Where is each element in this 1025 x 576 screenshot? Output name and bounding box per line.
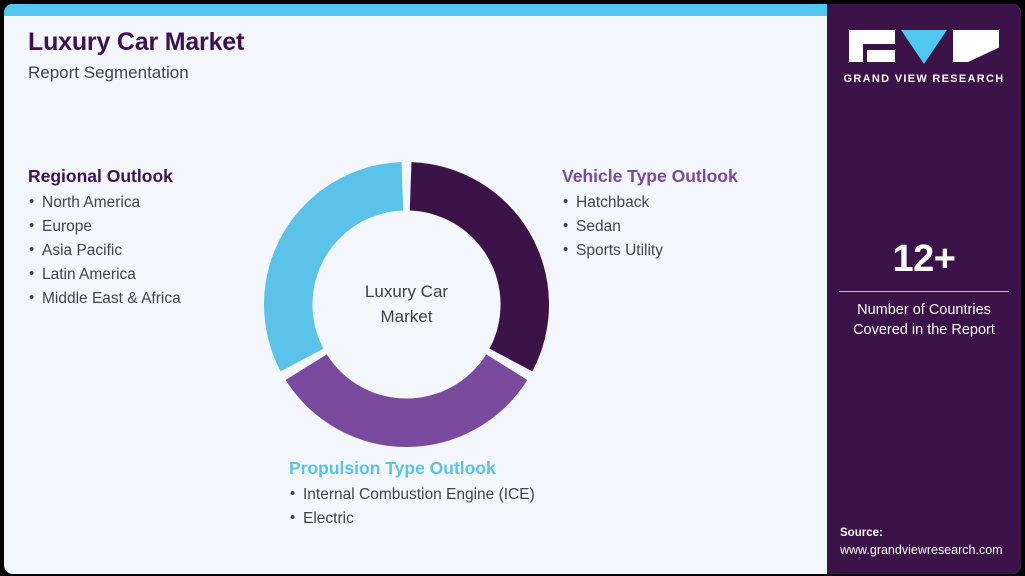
stat-divider	[839, 291, 1009, 292]
list-item: Hatchback	[562, 191, 738, 215]
segmentation-donut-chart: Luxury Car Market	[264, 162, 549, 447]
list-item: Europe	[28, 215, 181, 239]
list-item: Asia Pacific	[28, 239, 181, 263]
vehicle-type-outlook-heading: Vehicle Type Outlook	[562, 166, 738, 188]
logo-wordmark: GRAND VIEW RESEARCH	[827, 73, 1021, 85]
brand-logo: GRAND VIEW RESEARCH	[827, 30, 1021, 85]
donut-slice[interactable]	[286, 354, 528, 447]
page-title: Luxury Car Market	[28, 28, 728, 57]
source-block: Source: www.grandviewresearch.com	[840, 525, 1020, 559]
vehicle-type-outlook-block: Vehicle Type Outlook Hatchback Sedan Spo…	[562, 166, 738, 263]
regional-outlook-list: North America Europe Asia Pacific Latin …	[28, 191, 181, 311]
regional-outlook-heading: Regional Outlook	[28, 166, 181, 188]
stat-label-line-2: Covered in the Report	[839, 321, 1009, 341]
list-item: Sedan	[562, 215, 738, 239]
list-item: Electric	[289, 507, 535, 531]
propulsion-type-outlook-heading: Propulsion Type Outlook	[289, 458, 535, 480]
list-item: Latin America	[28, 263, 181, 287]
main-card: Luxury Car Market Report Segmentation Re…	[4, 4, 1021, 574]
list-item: Internal Combustion Engine (ICE)	[289, 483, 535, 507]
side-panel: GRAND VIEW RESEARCH 12+ Number of Countr…	[827, 4, 1021, 574]
vehicle-type-outlook-list: Hatchback Sedan Sports Utility	[562, 191, 738, 263]
stat-value: 12+	[839, 240, 1009, 278]
countries-stat-block: 12+ Number of Countries Covered in the R…	[839, 240, 1009, 340]
propulsion-type-outlook-block: Propulsion Type Outlook Internal Combust…	[289, 458, 535, 531]
list-item: Sports Utility	[562, 239, 738, 263]
source-title: Source:	[840, 525, 1020, 541]
logo-g-icon	[849, 30, 895, 62]
donut-svg	[264, 162, 549, 447]
regional-outlook-block: Regional Outlook North America Europe As…	[28, 166, 181, 311]
infographic-canvas: Luxury Car Market Report Segmentation Re…	[0, 0, 1025, 576]
header: Luxury Car Market Report Segmentation	[28, 28, 728, 83]
donut-slice[interactable]	[410, 162, 549, 371]
stat-label-line-1: Number of Countries	[839, 301, 1009, 321]
page-subtitle: Report Segmentation	[28, 63, 728, 83]
logo-v-triangle-icon	[901, 30, 947, 64]
logo-marks	[827, 30, 1021, 64]
logo-r-icon	[953, 30, 999, 62]
propulsion-type-outlook-list: Internal Combustion Engine (ICE) Electri…	[289, 483, 535, 531]
list-item: Middle East & Africa	[28, 287, 181, 311]
top-accent-bar	[4, 4, 827, 16]
donut-slice[interactable]	[264, 162, 403, 371]
source-url[interactable]: www.grandviewresearch.com	[840, 542, 1020, 560]
list-item: North America	[28, 191, 181, 215]
